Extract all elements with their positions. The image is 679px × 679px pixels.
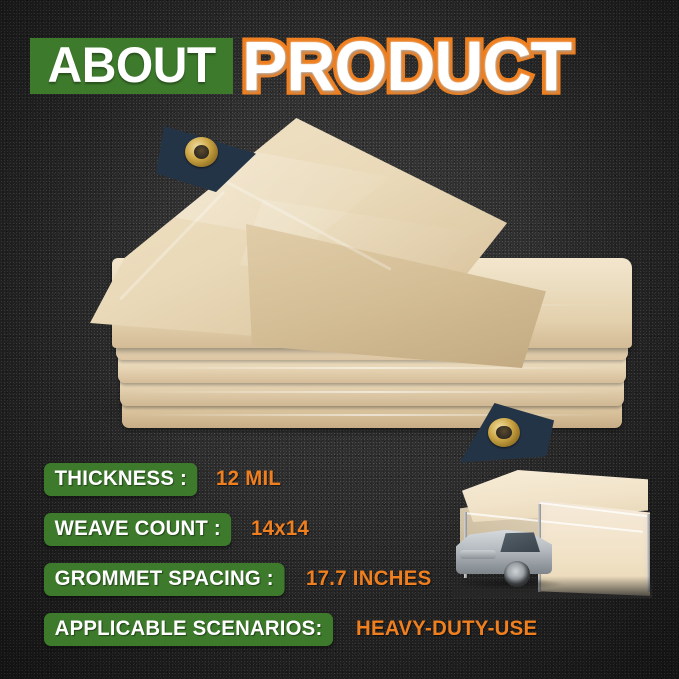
spec-value-weave-count: 14x14 bbox=[251, 517, 309, 541]
inset-ground-fade bbox=[452, 576, 652, 598]
spec-value-applicable-scenarios: HEAVY-DUTY-USE bbox=[356, 617, 537, 641]
grommet-icon bbox=[185, 137, 218, 167]
title-about-text: ABOUT bbox=[48, 41, 216, 89]
hero-tarp-image bbox=[60, 108, 620, 458]
spec-label-weave-count: WEAVE COUNT : bbox=[44, 513, 232, 546]
title-about-block: ABOUT bbox=[30, 38, 233, 94]
grommet-icon bbox=[488, 418, 520, 447]
tarp-fold-seam bbox=[132, 367, 614, 369]
tarp-fold-seam bbox=[134, 391, 612, 393]
spec-label-applicable-scenarios: APPLICABLE SCENARIOS: bbox=[44, 613, 333, 646]
spec-label-grommet-spacing: GROMMET SPACING : bbox=[44, 563, 284, 596]
spec-label-thickness: THICKNESS : bbox=[44, 463, 198, 496]
product-infographic: ABOUT PRODUCT THICKNESS : 12 MIL bbox=[0, 0, 679, 679]
spec-value-grommet-spacing: 17.7 INCHES bbox=[306, 567, 431, 591]
inset-carport-image bbox=[452, 466, 652, 596]
vehicle-grille bbox=[460, 550, 496, 559]
spec-value-thickness: 12 MIL bbox=[216, 467, 281, 491]
tarp-fold-seam bbox=[136, 414, 610, 416]
title-product-text: PRODUCT bbox=[242, 31, 571, 101]
spec-row-applicable-scenarios: APPLICABLE SCENARIOS: HEAVY-DUTY-USE bbox=[44, 610, 644, 648]
page-title: ABOUT PRODUCT bbox=[30, 28, 576, 104]
